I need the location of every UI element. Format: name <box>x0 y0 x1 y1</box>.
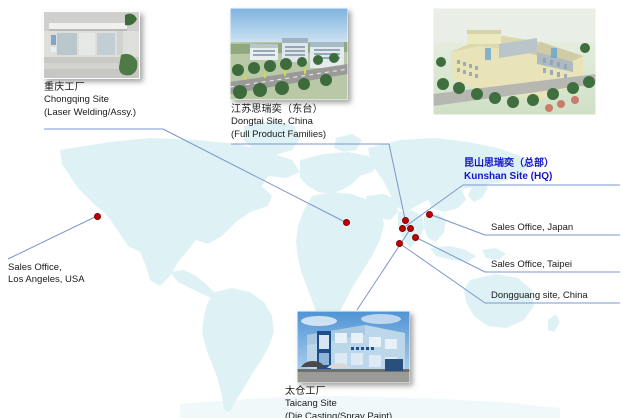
chongqing-caption-note: (Laser Welding/Assy.) <box>44 107 136 119</box>
dongtai-caption: 江苏思瑞奕（东台） Dongtai Site, China (Full Prod… <box>231 104 326 141</box>
dongguang-site-label: Dongguang site, China <box>491 290 588 301</box>
taicang-caption-en: Taicang Site <box>285 398 392 410</box>
los-angeles-label-line1: Sales Office, <box>8 262 85 274</box>
los-angeles-label: Sales Office, Los Angeles, USA <box>8 262 85 287</box>
chongqing-caption-cn: 重庆工厂 <box>44 82 136 94</box>
taicang-caption-cn: 太仓工厂 <box>285 386 392 398</box>
taicang-caption-note: (Die Casting/Spray Paint) <box>285 411 392 418</box>
taicang-caption: 太仓工厂 Taicang Site (Die Casting/Spray Pai… <box>285 386 392 418</box>
kunshan-photo <box>433 8 596 115</box>
los-angeles-label-line2: Los Angeles, USA <box>8 274 85 286</box>
dongtai-caption-en: Dongtai Site, China <box>231 116 326 128</box>
chongqing-caption-en: Chongqing Site <box>44 94 136 106</box>
dongtai-photo <box>230 8 348 100</box>
dongtai-caption-note: (Full Product Families) <box>231 129 326 141</box>
kunshan-hq-label: 昆山思瑞奕（总部） Kunshan Site (HQ) <box>464 158 554 183</box>
chongqing-photo <box>43 11 140 79</box>
sales-office-taipei-label: Sales Office, Taipei <box>491 259 572 270</box>
sales-office-japan-label: Sales Office, Japan <box>491 222 573 233</box>
infographic-canvas: 重庆工厂 Chongqing Site (Laser Welding/Assy.… <box>0 0 622 418</box>
kunshan-hq-label-cn: 昆山思瑞奕（总部） <box>464 158 554 171</box>
dongtai-caption-cn: 江苏思瑞奕（东台） <box>231 104 326 116</box>
kunshan-hq-label-en: Kunshan Site (HQ) <box>464 171 554 184</box>
chongqing-caption: 重庆工厂 Chongqing Site (Laser Welding/Assy.… <box>44 82 136 119</box>
taicang-photo <box>297 311 410 383</box>
